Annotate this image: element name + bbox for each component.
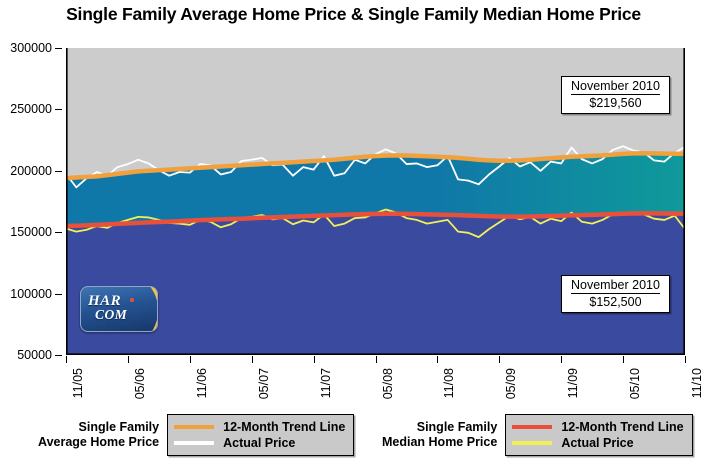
legend-average-home-price: Single Family Average Home Price 12-Mont… [38, 414, 354, 456]
legend-average-caption-line1: Single Family [38, 420, 159, 435]
legend-item-average-trend: 12-Month Trend Line [174, 419, 345, 435]
x-axis-label: 11/06 [195, 368, 209, 398]
x-axis-label: 05/09 [504, 368, 518, 399]
legend-median-caption-line1: Single Family [382, 420, 497, 435]
x-axis-label: 11/05 [71, 368, 85, 398]
logo-dot-icon [130, 298, 134, 302]
har-com-logo: HAR COM [80, 286, 158, 332]
legend-average-caption-line2: Average Home Price [38, 435, 159, 450]
y-axis-tick [55, 48, 62, 49]
annotation-average-value: $219,560 [571, 95, 660, 110]
x-axis-tick [561, 356, 562, 363]
y-axis-label: 300000 [10, 41, 52, 55]
legend-swatch-median-trend [512, 425, 552, 429]
x-axis-tick [314, 356, 315, 363]
x-axis-tick [685, 356, 686, 363]
x-axis-tick [437, 356, 438, 363]
page-title: Single Family Average Home Price & Singl… [0, 4, 707, 25]
legend-median-caption-line2: Median Home Price [382, 435, 497, 450]
x-axis-label: 05/10 [628, 368, 642, 399]
annotation-median-date: November 2010 [571, 278, 660, 294]
y-axis-tick [55, 109, 62, 110]
legend-median-home-price: Single Family Median Home Price 12-Month… [382, 414, 693, 456]
legend-swatch-median-actual [512, 441, 552, 445]
legend-swatch-average-actual [174, 441, 214, 445]
x-axis-tick [252, 356, 253, 363]
x-axis-tick [499, 356, 500, 363]
x-axis-tick [190, 356, 191, 363]
chart-legends: Single Family Average Home Price 12-Mont… [0, 414, 707, 472]
legend-average-caption: Single Family Average Home Price [38, 414, 167, 456]
x-axis-label: 11/09 [566, 368, 580, 398]
x-axis-label: 05/07 [257, 368, 271, 399]
x-axis: 11/0505/0611/0605/0711/0705/0811/0805/09… [0, 356, 707, 406]
legend-label-median-actual: Actual Price [561, 436, 633, 450]
legend-label-average-actual: Actual Price [223, 436, 295, 450]
y-axis-label: 200000 [10, 164, 52, 178]
x-axis-label: 05/08 [381, 368, 395, 399]
y-axis-label: 150000 [10, 225, 52, 239]
legend-label-average-trend: 12-Month Trend Line [223, 420, 345, 434]
y-axis-tick [55, 171, 62, 172]
x-axis-tick [623, 356, 624, 363]
logo-line2: COM [95, 308, 127, 322]
legend-item-median-trend: 12-Month Trend Line [512, 419, 683, 435]
y-axis-label: 250000 [10, 102, 52, 116]
x-axis-tick [376, 356, 377, 363]
annotation-average-date: November 2010 [571, 79, 660, 95]
legend-label-median-trend: 12-Month Trend Line [561, 420, 683, 434]
x-axis-tick [66, 356, 67, 363]
x-axis-label: 11/07 [319, 368, 333, 398]
legend-item-median-actual: Actual Price [512, 435, 683, 451]
y-axis-tick [55, 294, 62, 295]
annotation-median-value: $152,500 [571, 294, 660, 309]
y-axis: 30000025000020000015000010000050000 [0, 48, 62, 355]
x-axis-label: 05/06 [133, 368, 147, 399]
annotation-median-price: November 2010 $152,500 [561, 275, 670, 313]
legend-item-average-actual: Actual Price [174, 435, 345, 451]
chart-root: Single Family Average Home Price & Singl… [0, 0, 707, 475]
legend-swatch-average-trend [174, 425, 214, 429]
y-axis-tick [55, 232, 62, 233]
legend-median-caption: Single Family Median Home Price [382, 414, 505, 456]
y-axis-label: 100000 [10, 287, 52, 301]
logo-text: HAR COM [86, 292, 146, 326]
x-axis-tick [128, 356, 129, 363]
annotation-average-price: November 2010 $219,560 [561, 76, 670, 114]
x-axis-label: 11/08 [442, 368, 456, 398]
legend-average-box: 12-Month Trend Line Actual Price [167, 414, 354, 456]
x-axis-label: 11/10 [690, 368, 704, 398]
legend-median-box: 12-Month Trend Line Actual Price [505, 414, 692, 456]
